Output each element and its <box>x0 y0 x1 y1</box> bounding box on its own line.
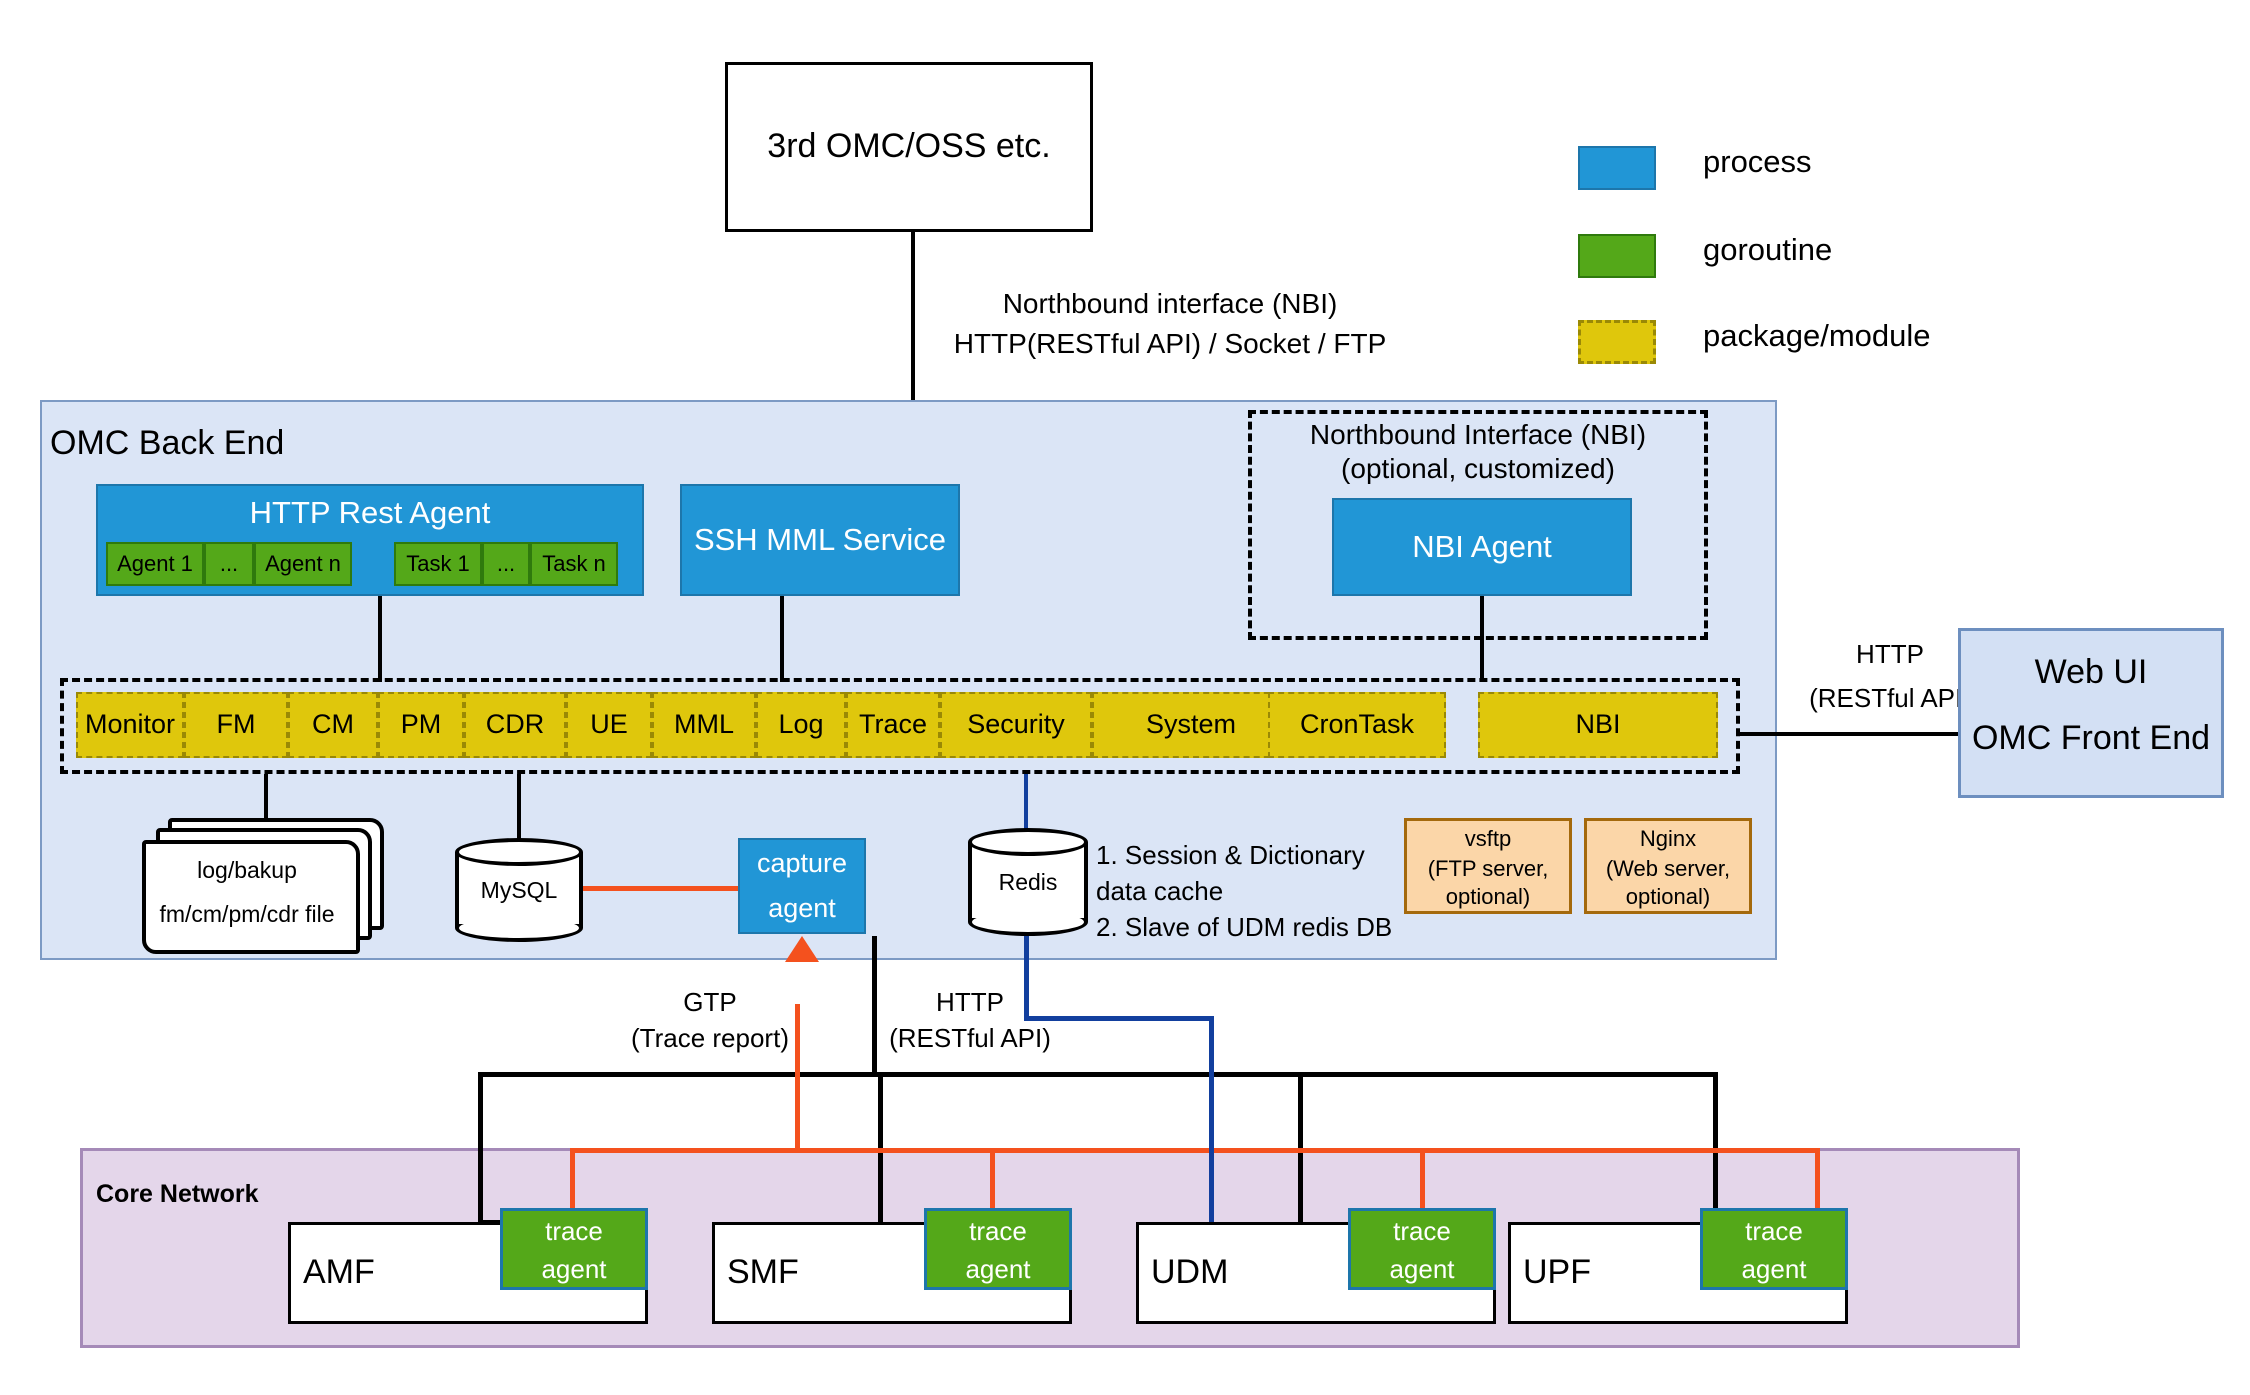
redis-drop-udm <box>1209 1016 1214 1228</box>
module-fm[interactable]: FM <box>184 692 288 758</box>
http-bus-horizontal <box>478 1072 1718 1077</box>
module-log[interactable]: Log <box>756 692 846 758</box>
vsftp-name: vsftp <box>1407 823 1569 855</box>
nbi-agent-box[interactable]: NBI Agent <box>1332 498 1632 596</box>
cdr-mysql-connector <box>517 774 521 846</box>
log-backup-label-line1: log/bakup <box>197 849 297 893</box>
udm-label: UDM <box>1151 1253 1228 1292</box>
trace-agent-smf-line2: agent <box>927 1253 1069 1287</box>
module-mml[interactable]: MML <box>652 692 756 758</box>
trace-agent-smf-line1: trace <box>927 1211 1069 1253</box>
nginx-desc-line1: (Web server, <box>1587 855 1749 883</box>
redis-bus-horizontal <box>1024 1016 1214 1021</box>
http-drop-amf <box>478 1072 483 1224</box>
legend-label-goroutine: goroutine <box>1703 232 1832 268</box>
third-party-omc-label: 3rd OMC/OSS etc. <box>767 127 1050 166</box>
goroutine-agent-1[interactable]: Agent 1 <box>106 542 204 586</box>
module-cm[interactable]: CM <box>288 692 378 758</box>
upf-label: UPF <box>1523 1253 1591 1292</box>
nbi-agent-module-connector <box>1480 596 1484 682</box>
amf-label: AMF <box>303 1253 375 1292</box>
trace-agent-upf[interactable]: trace agent <box>1700 1208 1848 1290</box>
gtp-label-line2: (Trace report) <box>580 1022 840 1056</box>
mysql-capture-agent-link <box>583 886 738 891</box>
goroutine-task-ellipsis: ... <box>482 542 530 586</box>
trace-agent-udm-line1: trace <box>1351 1211 1493 1253</box>
log-backup-files-shape: log/bakup fm/cm/pm/cdr file <box>136 818 386 948</box>
module-crontask[interactable]: CronTask <box>1268 692 1446 758</box>
module-ue[interactable]: UE <box>566 692 652 758</box>
nbi-group-title-line1: Northbound Interface (NBI) <box>1248 418 1708 452</box>
trace-agent-upf-line2: agent <box>1703 1253 1845 1287</box>
gtp-arrow-to-capture <box>785 936 819 962</box>
module-nbi[interactable]: NBI <box>1478 692 1718 758</box>
omc-back-end-title: OMC Back End <box>50 424 284 463</box>
nginx-box[interactable]: Nginx (Web server, optional) <box>1584 818 1752 914</box>
capture-agent-label-line2: agent <box>740 888 864 930</box>
ssh-mml-service-box[interactable]: SSH MML Service <box>680 484 960 596</box>
gtp-bus-horizontal <box>570 1148 1820 1153</box>
http-rest-agent-module-connector <box>378 596 382 682</box>
trace-agent-amf-line2: agent <box>503 1253 645 1287</box>
capture-agent-box[interactable]: capture agent <box>738 838 866 934</box>
legend-swatch-package-module <box>1578 320 1656 364</box>
gtp-label-line1: GTP <box>600 986 820 1020</box>
third-party-omc-box[interactable]: 3rd OMC/OSS etc. <box>725 62 1093 232</box>
http-rest-agent-title: HTTP Rest Agent <box>98 486 642 540</box>
log-backup-label-line2: fm/cm/pm/cdr file <box>159 893 334 937</box>
goroutine-task-n[interactable]: Task n <box>530 542 618 586</box>
redis-note-line3: 2. Slave of UDM redis DB <box>1096 910 1566 946</box>
trace-agent-udm-line2: agent <box>1351 1253 1493 1287</box>
mysql-database[interactable]: MySQL <box>455 838 583 942</box>
nbi-group-title-line2: (optional, customized) <box>1248 452 1708 486</box>
vsftp-desc-line1: (FTP server, <box>1407 855 1569 883</box>
legend-label-package-module: package/module <box>1703 318 1931 354</box>
legend-swatch-process <box>1578 146 1656 190</box>
web-ui-title-line1: Web UI <box>1961 631 2221 715</box>
legend: process goroutine package/module <box>1578 146 2238 366</box>
mysql-label: MySQL <box>455 838 583 942</box>
trace-agent-amf[interactable]: trace agent <box>500 1208 648 1290</box>
trace-agent-upf-line1: trace <box>1703 1211 1845 1253</box>
goroutine-agent-n[interactable]: Agent n <box>254 542 352 586</box>
http-bus-drop <box>872 936 877 1076</box>
goroutine-task-1[interactable]: Task 1 <box>394 542 482 586</box>
redis-database[interactable]: Redis <box>968 828 1088 936</box>
http-label-line2: (RESTful API) <box>840 1022 1100 1056</box>
ssh-mml-service-label: SSH MML Service <box>694 522 946 558</box>
module-system[interactable]: System <box>1092 692 1290 758</box>
module-cdr[interactable]: CDR <box>464 692 566 758</box>
module-monitor[interactable]: Monitor <box>76 692 184 758</box>
vsftp-desc-line2: optional) <box>1407 883 1569 911</box>
trace-agent-smf[interactable]: trace agent <box>924 1208 1072 1290</box>
vsftp-box[interactable]: vsftp (FTP server, optional) <box>1404 818 1572 914</box>
web-ui-title-line2: OMC Front End <box>1961 715 2221 763</box>
ssh-mml-module-connector <box>780 596 784 682</box>
http-label-line1: HTTP <box>860 986 1080 1020</box>
nbi-link-label-line2: HTTP(RESTful API) / Socket / FTP <box>890 326 1450 362</box>
trace-agent-udm[interactable]: trace agent <box>1348 1208 1496 1290</box>
gtp-riser-to-capture <box>795 1004 800 1150</box>
module-security[interactable]: Security <box>940 692 1092 758</box>
module-pm[interactable]: PM <box>378 692 464 758</box>
legend-label-process: process <box>1703 144 1812 180</box>
nginx-name: Nginx <box>1587 823 1749 855</box>
core-network-title: Core Network <box>96 1180 259 1209</box>
capture-agent-label-line1: capture <box>740 840 864 888</box>
module-trace[interactable]: Trace <box>846 692 940 758</box>
redis-label: Redis <box>968 828 1088 936</box>
smf-label: SMF <box>727 1253 799 1292</box>
nbi-agent-label: NBI Agent <box>1412 529 1552 565</box>
redis-drop-vertical <box>1024 936 1029 1020</box>
nginx-desc-line2: optional) <box>1587 883 1749 911</box>
legend-swatch-goroutine <box>1578 234 1656 278</box>
web-ui-front-end-box[interactable]: Web UI OMC Front End <box>1958 628 2224 798</box>
trace-agent-amf-line1: trace <box>503 1211 645 1253</box>
goroutine-agent-ellipsis: ... <box>204 542 254 586</box>
nbi-link-label-line1: Northbound interface (NBI) <box>890 286 1450 322</box>
